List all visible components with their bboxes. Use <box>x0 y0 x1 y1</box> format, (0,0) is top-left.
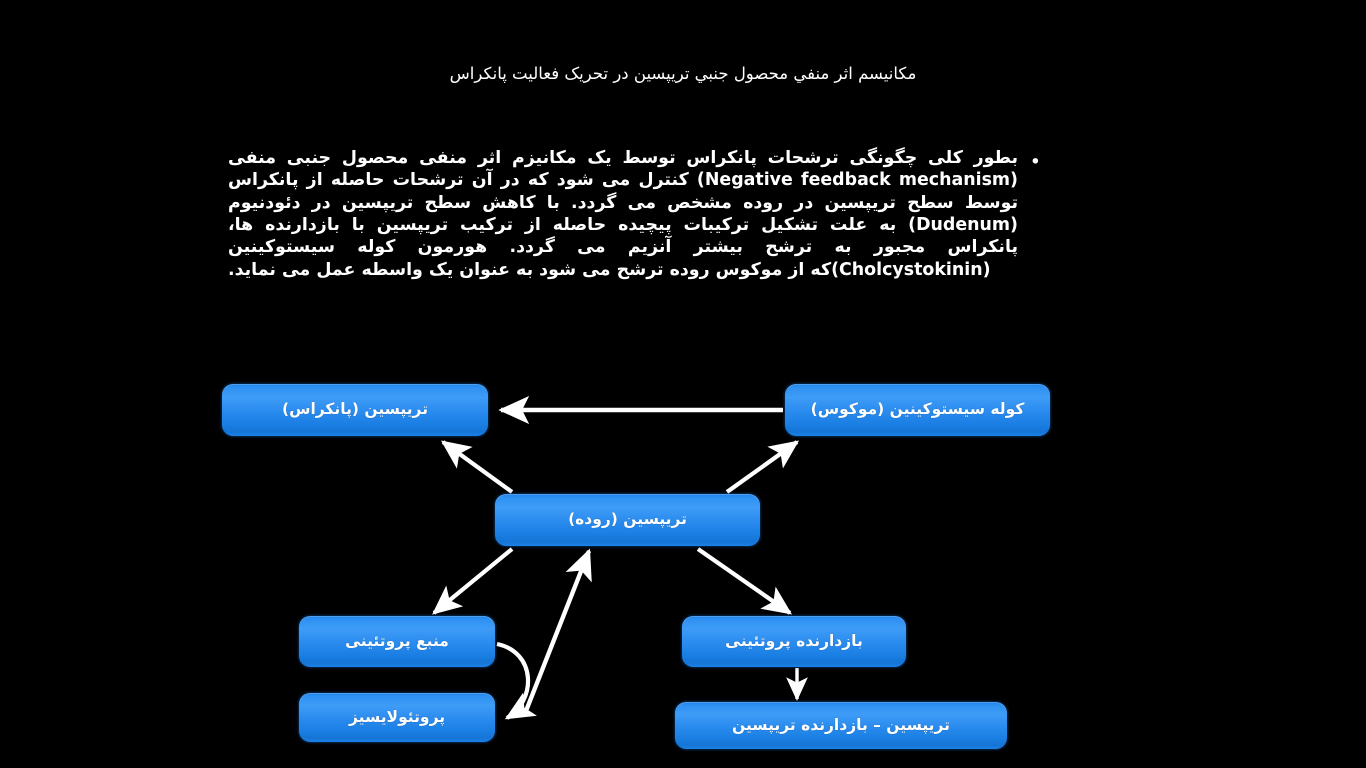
arrow-trypsin-gut-to-cck <box>727 442 797 492</box>
node-label: تریپسین (روده) <box>568 511 687 528</box>
slide-canvas: مکانیسم اثر منفي محصول جنبي تریپسین در ت… <box>0 0 1366 768</box>
arrow-trypsin-gut-to-protein-inhibitor <box>698 549 790 613</box>
node-cholecystokinin-mucus[interactable]: کوله سیستوکینین (موکوس) <box>785 384 1050 436</box>
node-label: پروتئولایسیز <box>349 709 445 726</box>
arrow-proteolysis-to-trypsin-gut <box>524 551 589 716</box>
flow-diagram: تریپسین (پانکراس) کوله سیستوکینین (موکوس… <box>0 0 1366 768</box>
node-protein-source[interactable]: منبع پروتئینی <box>299 616 495 667</box>
node-label: تریپسین (پانکراس) <box>282 401 428 418</box>
node-trypsin-intestine[interactable]: تریپسین (روده) <box>495 494 760 546</box>
node-label: منبع پروتئینی <box>345 633 449 650</box>
node-protein-inhibitor[interactable]: بازدارنده پروتئینی <box>682 616 906 667</box>
node-proteolysis[interactable]: پروتئولایسیز <box>299 693 495 742</box>
node-trypsin-trypsin-inhibitor-complex[interactable]: تریپسین – بازدارنده تریپسین <box>675 702 1007 749</box>
arrow-trypsin-gut-to-trypsin-pancreas <box>443 442 512 492</box>
node-trypsin-pancreas[interactable]: تریپسین (پانکراس) <box>222 384 488 436</box>
node-label: بازدارنده پروتئینی <box>725 633 863 650</box>
node-label: کوله سیستوکینین (موکوس) <box>811 401 1025 418</box>
arrow-trypsin-gut-to-protein-source <box>434 549 512 613</box>
node-label: تریپسین – بازدارنده تریپسین <box>732 717 950 734</box>
arrow-protein-source-to-proteolysis <box>497 644 528 718</box>
